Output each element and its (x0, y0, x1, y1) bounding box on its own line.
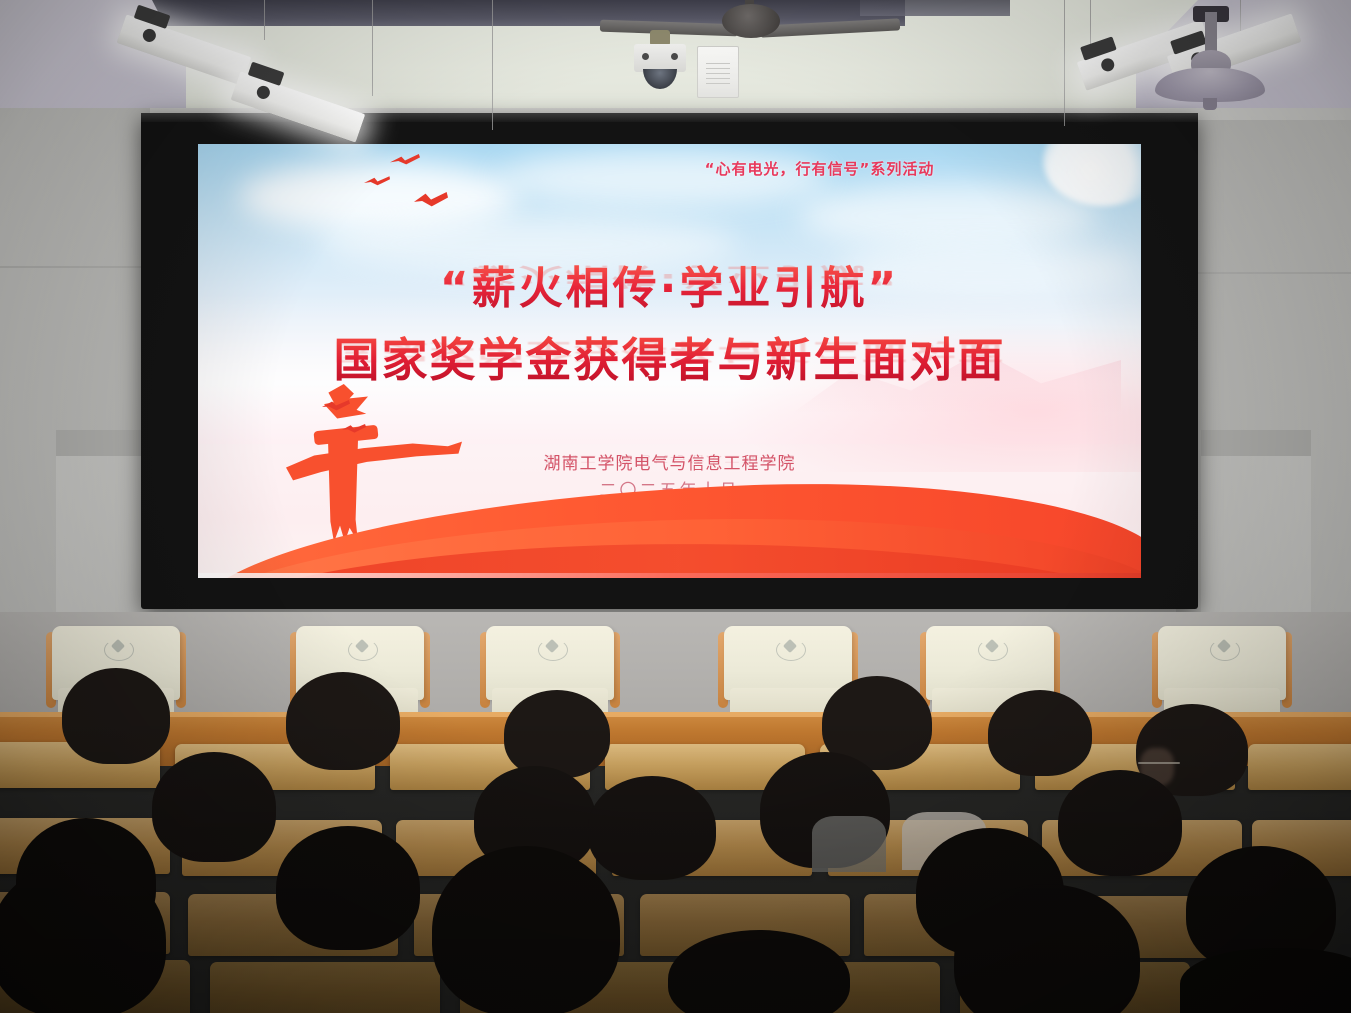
fan-bottom-cap (1203, 98, 1217, 110)
wave-highlight (198, 573, 1141, 578)
hanging-wire (264, 0, 265, 40)
hanging-wire (492, 0, 493, 130)
lamp-sensor-icon (1099, 57, 1116, 74)
audience-shirt (812, 816, 886, 872)
chair-emblem-icon (104, 639, 132, 659)
presentation-slide: “心有电光，行有信号”系列活动 “薪火相传·学业引航” “薪火相传·学业引航” … (198, 144, 1141, 578)
hanging-wire (1064, 0, 1065, 126)
audience-head (504, 690, 610, 778)
lamp-sensor-icon (141, 27, 158, 44)
wall-seam-left (0, 266, 152, 268)
wall-ledge-left-top (56, 430, 154, 456)
slide-title-line1: “薪火相传·学业引航” (198, 252, 1141, 316)
audience-head (988, 690, 1092, 776)
lamp-sensor-icon (255, 84, 272, 101)
wall-ledge-right-top (1201, 430, 1311, 456)
torch-flame-icon (324, 384, 368, 432)
fan-dome-shroud (1155, 68, 1265, 102)
slide-wave-graphic (198, 458, 1141, 578)
audience-shoulder (1180, 948, 1351, 1013)
hanging-wire (372, 0, 373, 96)
fan-blade (760, 18, 900, 37)
camera-lens-dome-icon (643, 69, 677, 89)
camera-indicator-icon (642, 53, 649, 60)
front-desk-edge (0, 712, 1351, 717)
chair-emblem-icon (1210, 639, 1238, 659)
wall-control-box (697, 46, 739, 98)
audience-head (286, 672, 400, 770)
slide-title-line2: 国家奖学金获得者与新生面对面 (198, 324, 1141, 390)
audience-head (152, 752, 276, 862)
wall-mounted-fan (1155, 12, 1265, 108)
hanging-wire (1090, 0, 1091, 48)
wall-seam-right (1175, 272, 1351, 274)
camera-body (634, 44, 686, 72)
camera-indicator-icon (671, 53, 678, 60)
audience-head (588, 776, 716, 880)
chair-emblem-icon (978, 639, 1006, 659)
chair-emblem-icon (348, 639, 376, 659)
device-vent (706, 63, 730, 85)
slide-kicker: “心有电光，行有信号”系列活动 (198, 158, 1141, 179)
audience-head (0, 862, 166, 1013)
audience-head (432, 846, 620, 1013)
bench-seatback (1248, 744, 1351, 790)
chair-emblem-icon (776, 639, 804, 659)
cloud (798, 184, 1098, 248)
dome-security-camera (634, 44, 686, 90)
chair-emblem-icon (538, 639, 566, 659)
led-screen-bezel: “心有电光，行有信号”系列活动 “薪火相传·学业引航” “薪火相传·学业引航” … (141, 113, 1198, 609)
bench-seatback (210, 962, 440, 1013)
auditorium-photo: “心有电光，行有信号”系列活动 “薪火相传·学业引航” “薪火相传·学业引航” … (0, 0, 1351, 1013)
slide-kicker-text: “心有电光，行有信号”系列活动 (405, 160, 935, 178)
audience-head (276, 826, 420, 950)
eyeglasses-icon (1138, 762, 1180, 764)
audience-head (1058, 770, 1182, 876)
audience-head (62, 668, 170, 764)
fan-hub (722, 4, 780, 38)
